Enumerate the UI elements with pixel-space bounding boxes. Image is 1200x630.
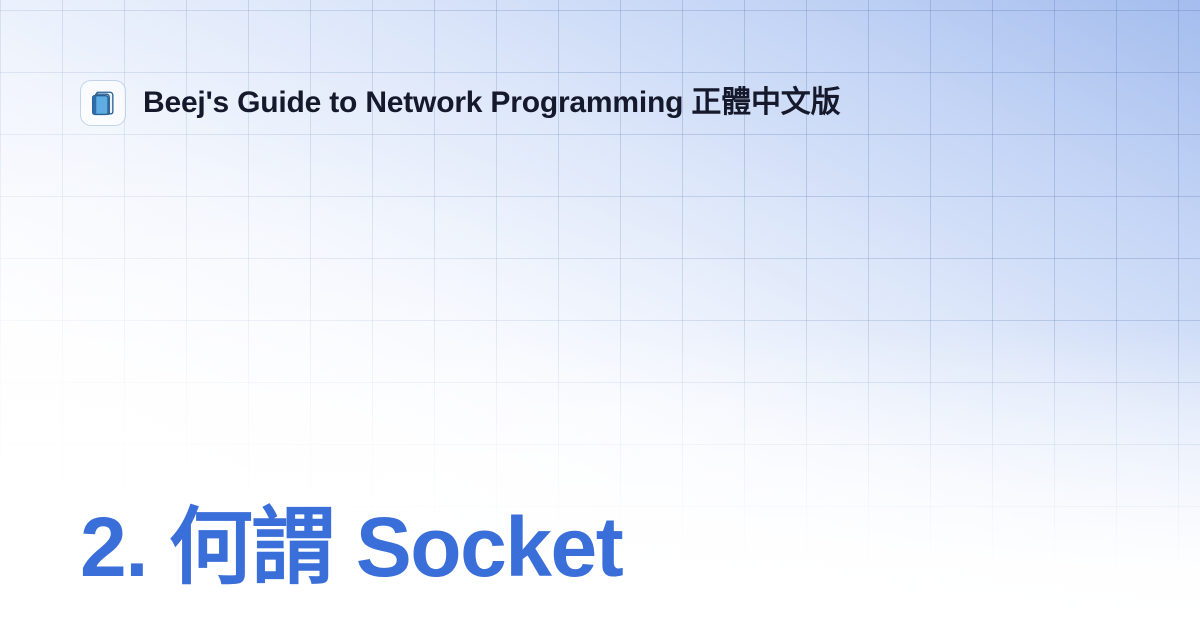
og-card: Beej's Guide to Network Programming 正體中文… bbox=[0, 0, 1200, 630]
page-title: 2. 何謂 Socket bbox=[80, 500, 622, 594]
site-header: Beej's Guide to Network Programming 正體中文… bbox=[80, 80, 840, 126]
blue-book-icon bbox=[88, 88, 118, 118]
site-title: Beej's Guide to Network Programming 正體中文… bbox=[143, 88, 840, 118]
brand-icon-badge bbox=[80, 80, 126, 126]
